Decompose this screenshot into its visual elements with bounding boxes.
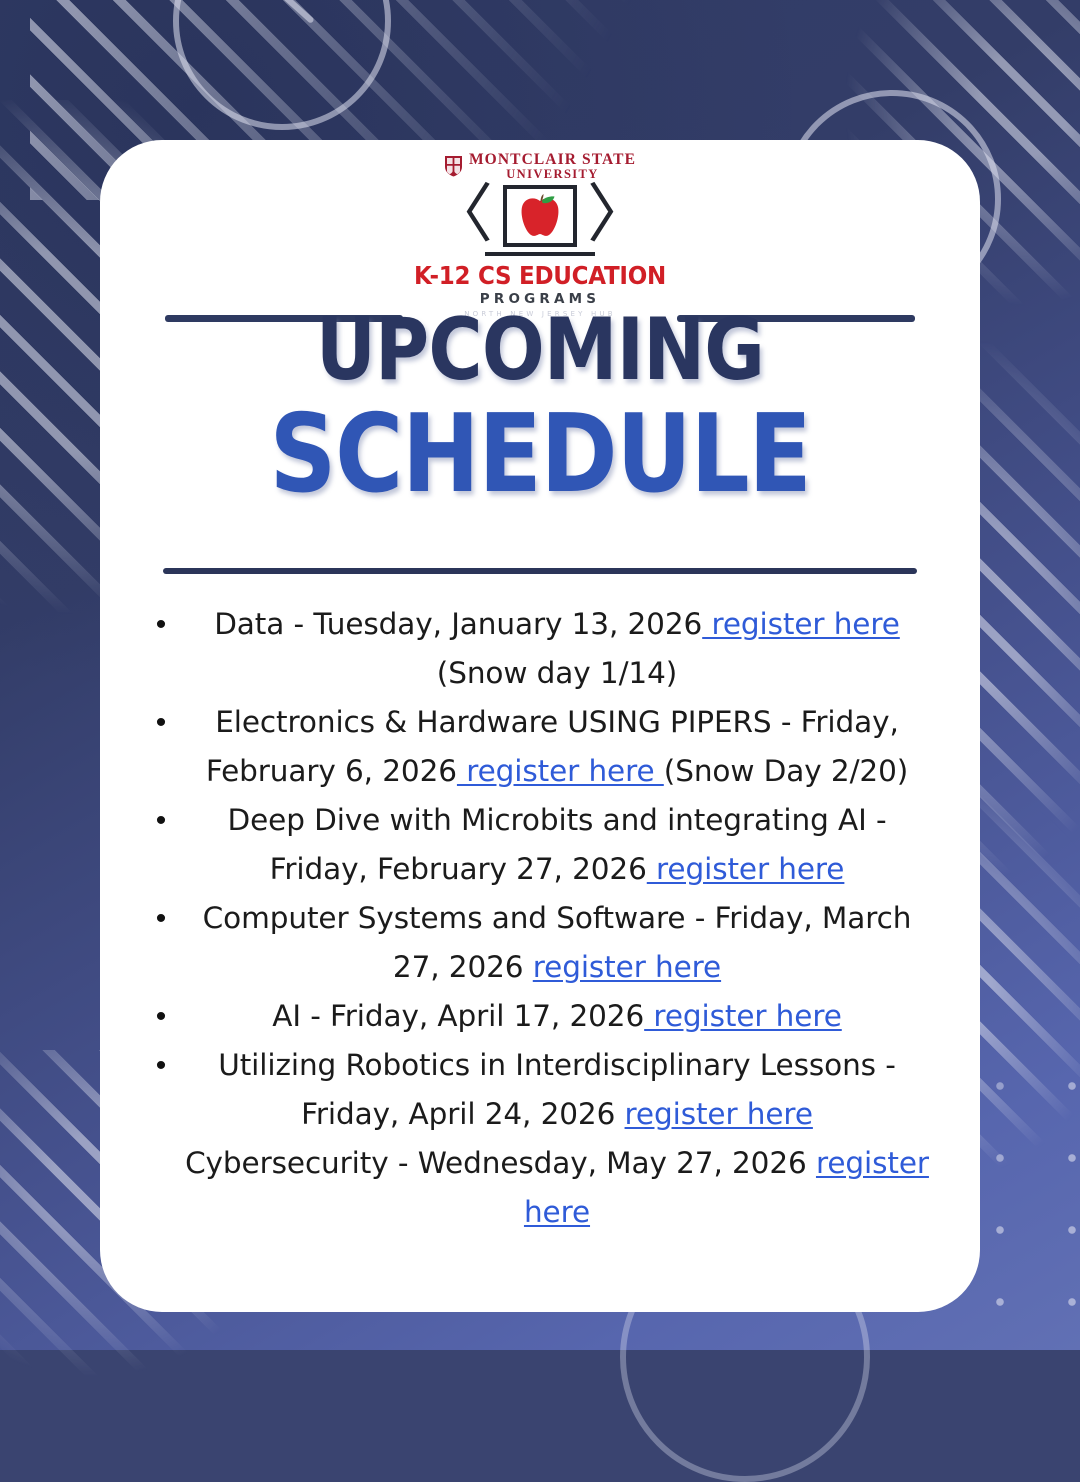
schedule-item-text: Data - Tuesday, January 13, 2026 registe… [178, 600, 936, 698]
list-bullet-icon: • [144, 698, 178, 747]
monitor-stand-icon [485, 252, 595, 256]
schedule-item: •Electronics & Hardware USING PIPERS - F… [144, 698, 936, 796]
monitor-icon [503, 185, 577, 247]
schedule-item-text: Deep Dive with Microbits and integrating… [178, 796, 936, 894]
register-here-link[interactable]: register here [625, 1097, 813, 1131]
angle-bracket-right-icon: 〉 [587, 188, 651, 242]
schedule-item-label: (Snow day 1/14) [437, 656, 677, 690]
logo-program-title: K-12 CS EDUCATION [414, 261, 666, 290]
schedule-item: •Cybersecurity - Wednesday, May 27, 2026… [144, 1139, 936, 1237]
apple-icon [514, 193, 566, 239]
schedule-item-label: AI - Friday, April 17, 2026 [272, 999, 644, 1033]
msu-name-text: MONTCLAIR STATE UNIVERSITY [469, 152, 636, 181]
list-bullet-icon: • [144, 894, 178, 943]
schedule-item: •Computer Systems and Software - Friday,… [144, 894, 936, 992]
list-bullet-icon: • [144, 1041, 178, 1090]
schedule-item: •AI - Friday, April 17, 2026 register he… [144, 992, 936, 1041]
poster-card: MONTCLAIR STATE UNIVERSITY 〈 〉 K-12 CS E… [100, 140, 980, 1312]
title-divider [163, 568, 917, 574]
msu-shield-icon [444, 155, 463, 177]
list-bullet-icon: • [144, 992, 178, 1041]
schedule-item-text: Computer Systems and Software - Friday, … [178, 894, 936, 992]
code-brackets-logo: 〈 〉 [429, 185, 651, 247]
register-here-link[interactable]: register here [647, 852, 845, 886]
schedule-item: •Utilizing Robotics in Interdisciplinary… [144, 1041, 936, 1139]
schedule-item-label: Cybersecurity - Wednesday, May 27, 2026 [185, 1146, 816, 1180]
schedule-item-label: Data - Tuesday, January 13, 2026 [214, 607, 702, 641]
page-title-line-2: SCHEDULE [162, 392, 919, 517]
schedule-item: •Data - Tuesday, January 13, 2026 regist… [144, 600, 936, 698]
schedule-item-label: (Snow Day 2/20) [664, 754, 908, 788]
schedule-item-text: Utilizing Robotics in Interdisciplinary … [178, 1041, 936, 1139]
register-here-link[interactable]: register here [533, 950, 721, 984]
schedule-item: •Deep Dive with Microbits and integratin… [144, 796, 936, 894]
schedule-list: •Data - Tuesday, January 13, 2026 regist… [144, 600, 936, 1237]
msu-line-1: MONTCLAIR STATE [469, 152, 636, 168]
list-bullet-icon: • [144, 600, 178, 649]
page-title-line-1: UPCOMING [162, 300, 919, 400]
schedule-item-text: Electronics & Hardware USING PIPERS - Fr… [178, 698, 936, 796]
register-here-link[interactable]: register here [457, 754, 664, 788]
msu-wordmark: MONTCLAIR STATE UNIVERSITY [444, 152, 636, 181]
angle-bracket-left-icon: 〈 [429, 188, 493, 242]
register-here-link[interactable]: register here [644, 999, 842, 1033]
register-here-link[interactable]: register here [702, 607, 900, 641]
msu-k12-logo: MONTCLAIR STATE UNIVERSITY 〈 〉 K-12 CS E… [100, 152, 980, 318]
msu-line-2: UNIVERSITY [506, 168, 599, 181]
schedule-item-text: AI - Friday, April 17, 2026 register her… [178, 992, 936, 1041]
schedule-item-text: Cybersecurity - Wednesday, May 27, 2026 … [178, 1139, 936, 1237]
list-bullet-icon: • [144, 796, 178, 845]
